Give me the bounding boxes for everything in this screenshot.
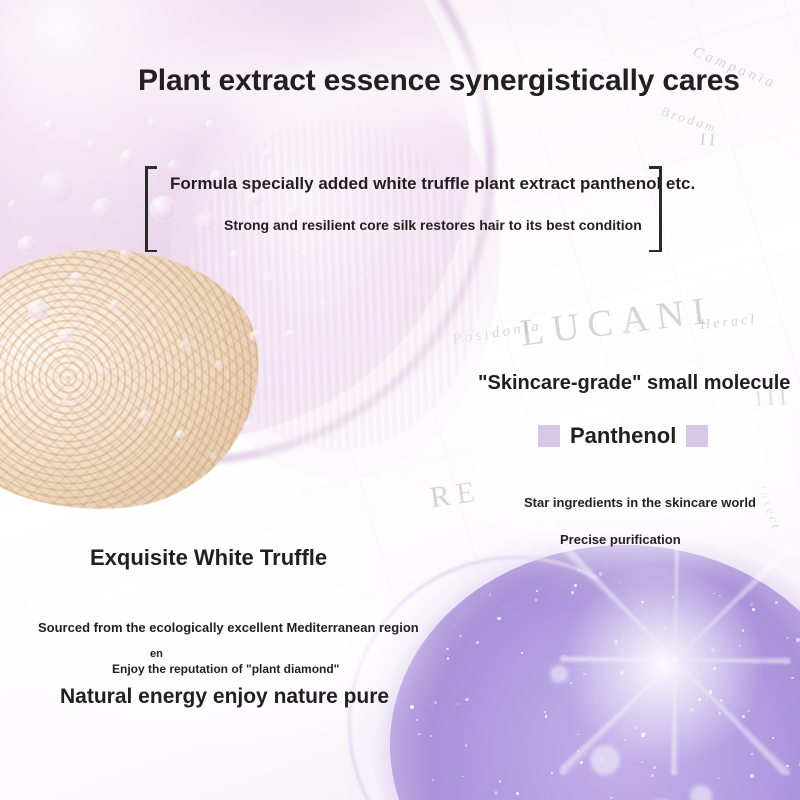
- sparkle-dot: [545, 715, 548, 718]
- accent-swatch-left: [538, 425, 560, 447]
- sparkle-dot: [455, 624, 456, 625]
- sparkle-dot: [465, 744, 467, 746]
- product-poster: LUCANI Posidonia Heracl RE Campania II I…: [0, 0, 800, 800]
- sparkle-dot: [418, 733, 420, 735]
- sparkle-dot: [525, 794, 526, 795]
- sparkle-dot: [601, 758, 604, 761]
- sparkle-dot: [791, 677, 793, 679]
- bubble: [262, 150, 272, 160]
- bubble: [62, 398, 69, 405]
- sparkle-dot: [750, 774, 754, 778]
- bubble: [40, 170, 74, 204]
- sparkle-dot: [720, 699, 723, 702]
- bubble: [180, 340, 191, 351]
- sparkle-dot: [739, 645, 741, 647]
- sparkle-dot: [706, 698, 708, 700]
- sparkle-dot: [742, 629, 744, 631]
- sparkle-dot: [577, 669, 578, 670]
- sparkle-dot: [713, 667, 716, 670]
- bracket-left-top-tip: [145, 166, 157, 169]
- sparkle-dot: [634, 727, 636, 729]
- page-title: Plant extract essence synergistically ca…: [138, 64, 740, 98]
- sparkle-dot: [596, 701, 597, 702]
- map-label-re: RE: [428, 475, 484, 516]
- panthenol-label: Panthenol: [570, 423, 676, 449]
- sparkle-dot: [775, 601, 778, 604]
- map-label-lucani: LUCANI: [518, 288, 716, 355]
- sphere-highlight-arc: [308, 516, 724, 800]
- sparkle-dot: [507, 606, 508, 607]
- en-caption: en: [150, 648, 163, 660]
- bubble: [300, 250, 309, 259]
- sparkle-dot: [410, 705, 414, 709]
- white-truffle-veining: [0, 233, 273, 526]
- sparkle-dot: [577, 750, 579, 752]
- star-ingredients-caption: Star ingredients in the skincare world: [524, 495, 756, 510]
- sparkle-dot: [430, 735, 431, 736]
- sparkle-dot: [752, 608, 755, 611]
- bracket-left-stem: [145, 166, 148, 252]
- sparkle-dot: [446, 648, 449, 651]
- sphere-inner-bubble: [690, 785, 712, 800]
- sparkle-dot: [711, 648, 715, 652]
- sparkle-dot: [571, 591, 575, 595]
- sparkle-dot: [639, 638, 640, 639]
- bubble: [176, 430, 184, 438]
- sparkle-dot: [551, 772, 553, 774]
- bubble: [28, 300, 48, 320]
- bubble: [148, 118, 157, 127]
- bubble: [214, 360, 223, 369]
- bubble: [244, 420, 253, 429]
- bubble: [230, 250, 240, 260]
- sparkle-dot: [462, 776, 463, 777]
- sparkle-dot: [697, 796, 698, 797]
- bubble: [320, 300, 327, 307]
- sparkle-dot: [466, 735, 468, 737]
- sparkle-dot: [698, 673, 700, 675]
- sparkle-dot: [578, 569, 580, 571]
- sparkle-dot: [609, 703, 610, 704]
- sparkle-dot: [585, 754, 586, 755]
- sparkle-dot: [786, 765, 788, 767]
- sparkle-dot: [646, 615, 647, 616]
- sparkle-dot: [521, 652, 523, 654]
- sparkle-dot: [583, 673, 586, 676]
- bubble: [110, 300, 120, 310]
- sparkle-dot: [580, 761, 583, 764]
- sparkle-dot: [489, 593, 491, 595]
- bubble: [44, 120, 56, 132]
- sparkle-dot: [653, 766, 656, 769]
- callout-line-1: Formula specially added white truffle pl…: [170, 174, 695, 194]
- bubble: [120, 250, 129, 259]
- sphere-outer-rim: [368, 528, 800, 800]
- bubble: [196, 212, 216, 232]
- sparkle-dot: [535, 599, 537, 601]
- sparkle-dot: [430, 705, 431, 706]
- map-label-insect: Insect: [753, 483, 785, 534]
- sparkle-dot: [614, 640, 618, 644]
- sparkle-dot: [577, 734, 578, 735]
- sparkle-dot: [651, 774, 654, 777]
- natural-energy-footer: Natural energy enjoy nature pure: [60, 685, 389, 709]
- sparkle-dot: [476, 641, 480, 645]
- sparkle-dot: [718, 777, 720, 779]
- accent-swatch-right: [686, 425, 708, 447]
- sparkle-dot: [644, 732, 647, 735]
- sparkle-dot: [447, 657, 449, 659]
- sparkle-dot: [690, 708, 694, 712]
- sparkle-dot: [623, 634, 625, 636]
- sparkle-dot: [574, 584, 577, 587]
- bracket-left-bottom-tip: [145, 250, 157, 253]
- bubble: [8, 200, 18, 210]
- skincare-grade-heading: "Skincare-grade" small molecule: [478, 372, 790, 395]
- sparkle-dot: [553, 621, 554, 622]
- sparkle-dot: [548, 793, 549, 794]
- sparkle-dot: [516, 792, 519, 795]
- sparkle-dot: [610, 797, 613, 800]
- bubble: [120, 150, 136, 166]
- sparkle-dot: [573, 714, 574, 715]
- sparkle-dot: [656, 654, 657, 655]
- map-label-brodam: Brodam: [659, 103, 720, 136]
- sparkle-dot: [459, 635, 462, 638]
- plant-diamond-caption: Enjoy the reputation of "plant diamond": [112, 662, 339, 676]
- sphere-inner-bubble: [550, 665, 568, 683]
- precise-purification-caption: Precise purification: [560, 532, 681, 547]
- callout-line-2: Strong and resilient core silk restores …: [224, 217, 642, 233]
- sparkle-dot: [457, 703, 459, 705]
- bubble: [96, 366, 104, 374]
- sparkle-dot: [590, 656, 591, 657]
- sparkle-dot: [599, 572, 603, 576]
- bubble: [92, 198, 114, 220]
- bubble: [210, 452, 217, 459]
- sparkle-dot: [658, 676, 659, 677]
- bubble: [58, 330, 72, 344]
- sparkle-dot: [432, 779, 434, 781]
- sparkle-dot: [570, 682, 572, 684]
- sparkle-dot: [664, 627, 667, 630]
- bubble: [70, 272, 82, 284]
- sparkle-dot: [742, 715, 745, 718]
- sparkle-dot: [563, 655, 564, 656]
- sparkle-dot: [719, 595, 720, 596]
- sphere-sparkle-dots: [390, 545, 800, 800]
- sparkle-dot: [713, 593, 715, 595]
- sparkle-dot: [681, 679, 682, 680]
- gel-blob-striations: [179, 110, 491, 459]
- sparkle-dot: [536, 590, 538, 592]
- sparkle-dot: [796, 638, 800, 642]
- sparkle-dot: [434, 701, 437, 704]
- sparkle-dot: [494, 791, 498, 795]
- sparkle-dot: [641, 733, 644, 736]
- bubble: [262, 272, 276, 286]
- white-truffle-slice: [0, 233, 273, 526]
- bubble: [250, 330, 262, 342]
- sparkle-dot: [750, 603, 754, 607]
- gel-blob-inner: [170, 60, 500, 480]
- bubble: [168, 160, 180, 172]
- bubble: [286, 330, 294, 338]
- sparkle-dot: [497, 617, 500, 620]
- sparkle-dot: [672, 596, 674, 598]
- bracket-right-bottom-tip: [649, 250, 661, 253]
- bubble: [206, 120, 214, 128]
- sparkle-dot: [641, 601, 644, 604]
- sparkle-dot: [465, 698, 468, 701]
- sparkle-dot: [620, 671, 624, 675]
- sparkle-dot: [709, 690, 712, 693]
- sparkle-dot: [416, 719, 418, 721]
- sparkle-dot: [624, 739, 626, 741]
- bubble: [86, 140, 96, 150]
- bubble: [18, 236, 36, 254]
- sparkle-dot: [660, 615, 661, 616]
- white-truffle-heading: Exquisite White Truffle: [90, 545, 327, 571]
- sparkle-dot: [718, 712, 721, 715]
- sparkle-dot: [635, 609, 636, 610]
- sparkle-dot: [786, 637, 788, 639]
- sparkle-dot: [619, 582, 620, 583]
- glowing-sphere: [390, 545, 800, 800]
- sparkle-dot: [499, 780, 501, 782]
- sphere-starburst-icon: [560, 545, 790, 775]
- sourced-caption: Sourced from the ecologically excellent …: [38, 620, 419, 635]
- sparkle-dot: [698, 698, 701, 701]
- sparkle-dot: [699, 703, 700, 704]
- bracket-right-top-tip: [649, 166, 661, 169]
- sparkle-dot: [641, 761, 644, 764]
- sphere-inner-bubble: [590, 745, 620, 775]
- bubble: [150, 196, 176, 222]
- sparkle-dot: [772, 737, 775, 740]
- bubble: [140, 410, 150, 420]
- sparkle-dot: [710, 696, 711, 697]
- sparkle-dot: [751, 753, 753, 755]
- sparkle-dot: [544, 711, 545, 712]
- sparkle-dot: [747, 710, 750, 713]
- panthenol-row: Panthenol: [538, 423, 708, 449]
